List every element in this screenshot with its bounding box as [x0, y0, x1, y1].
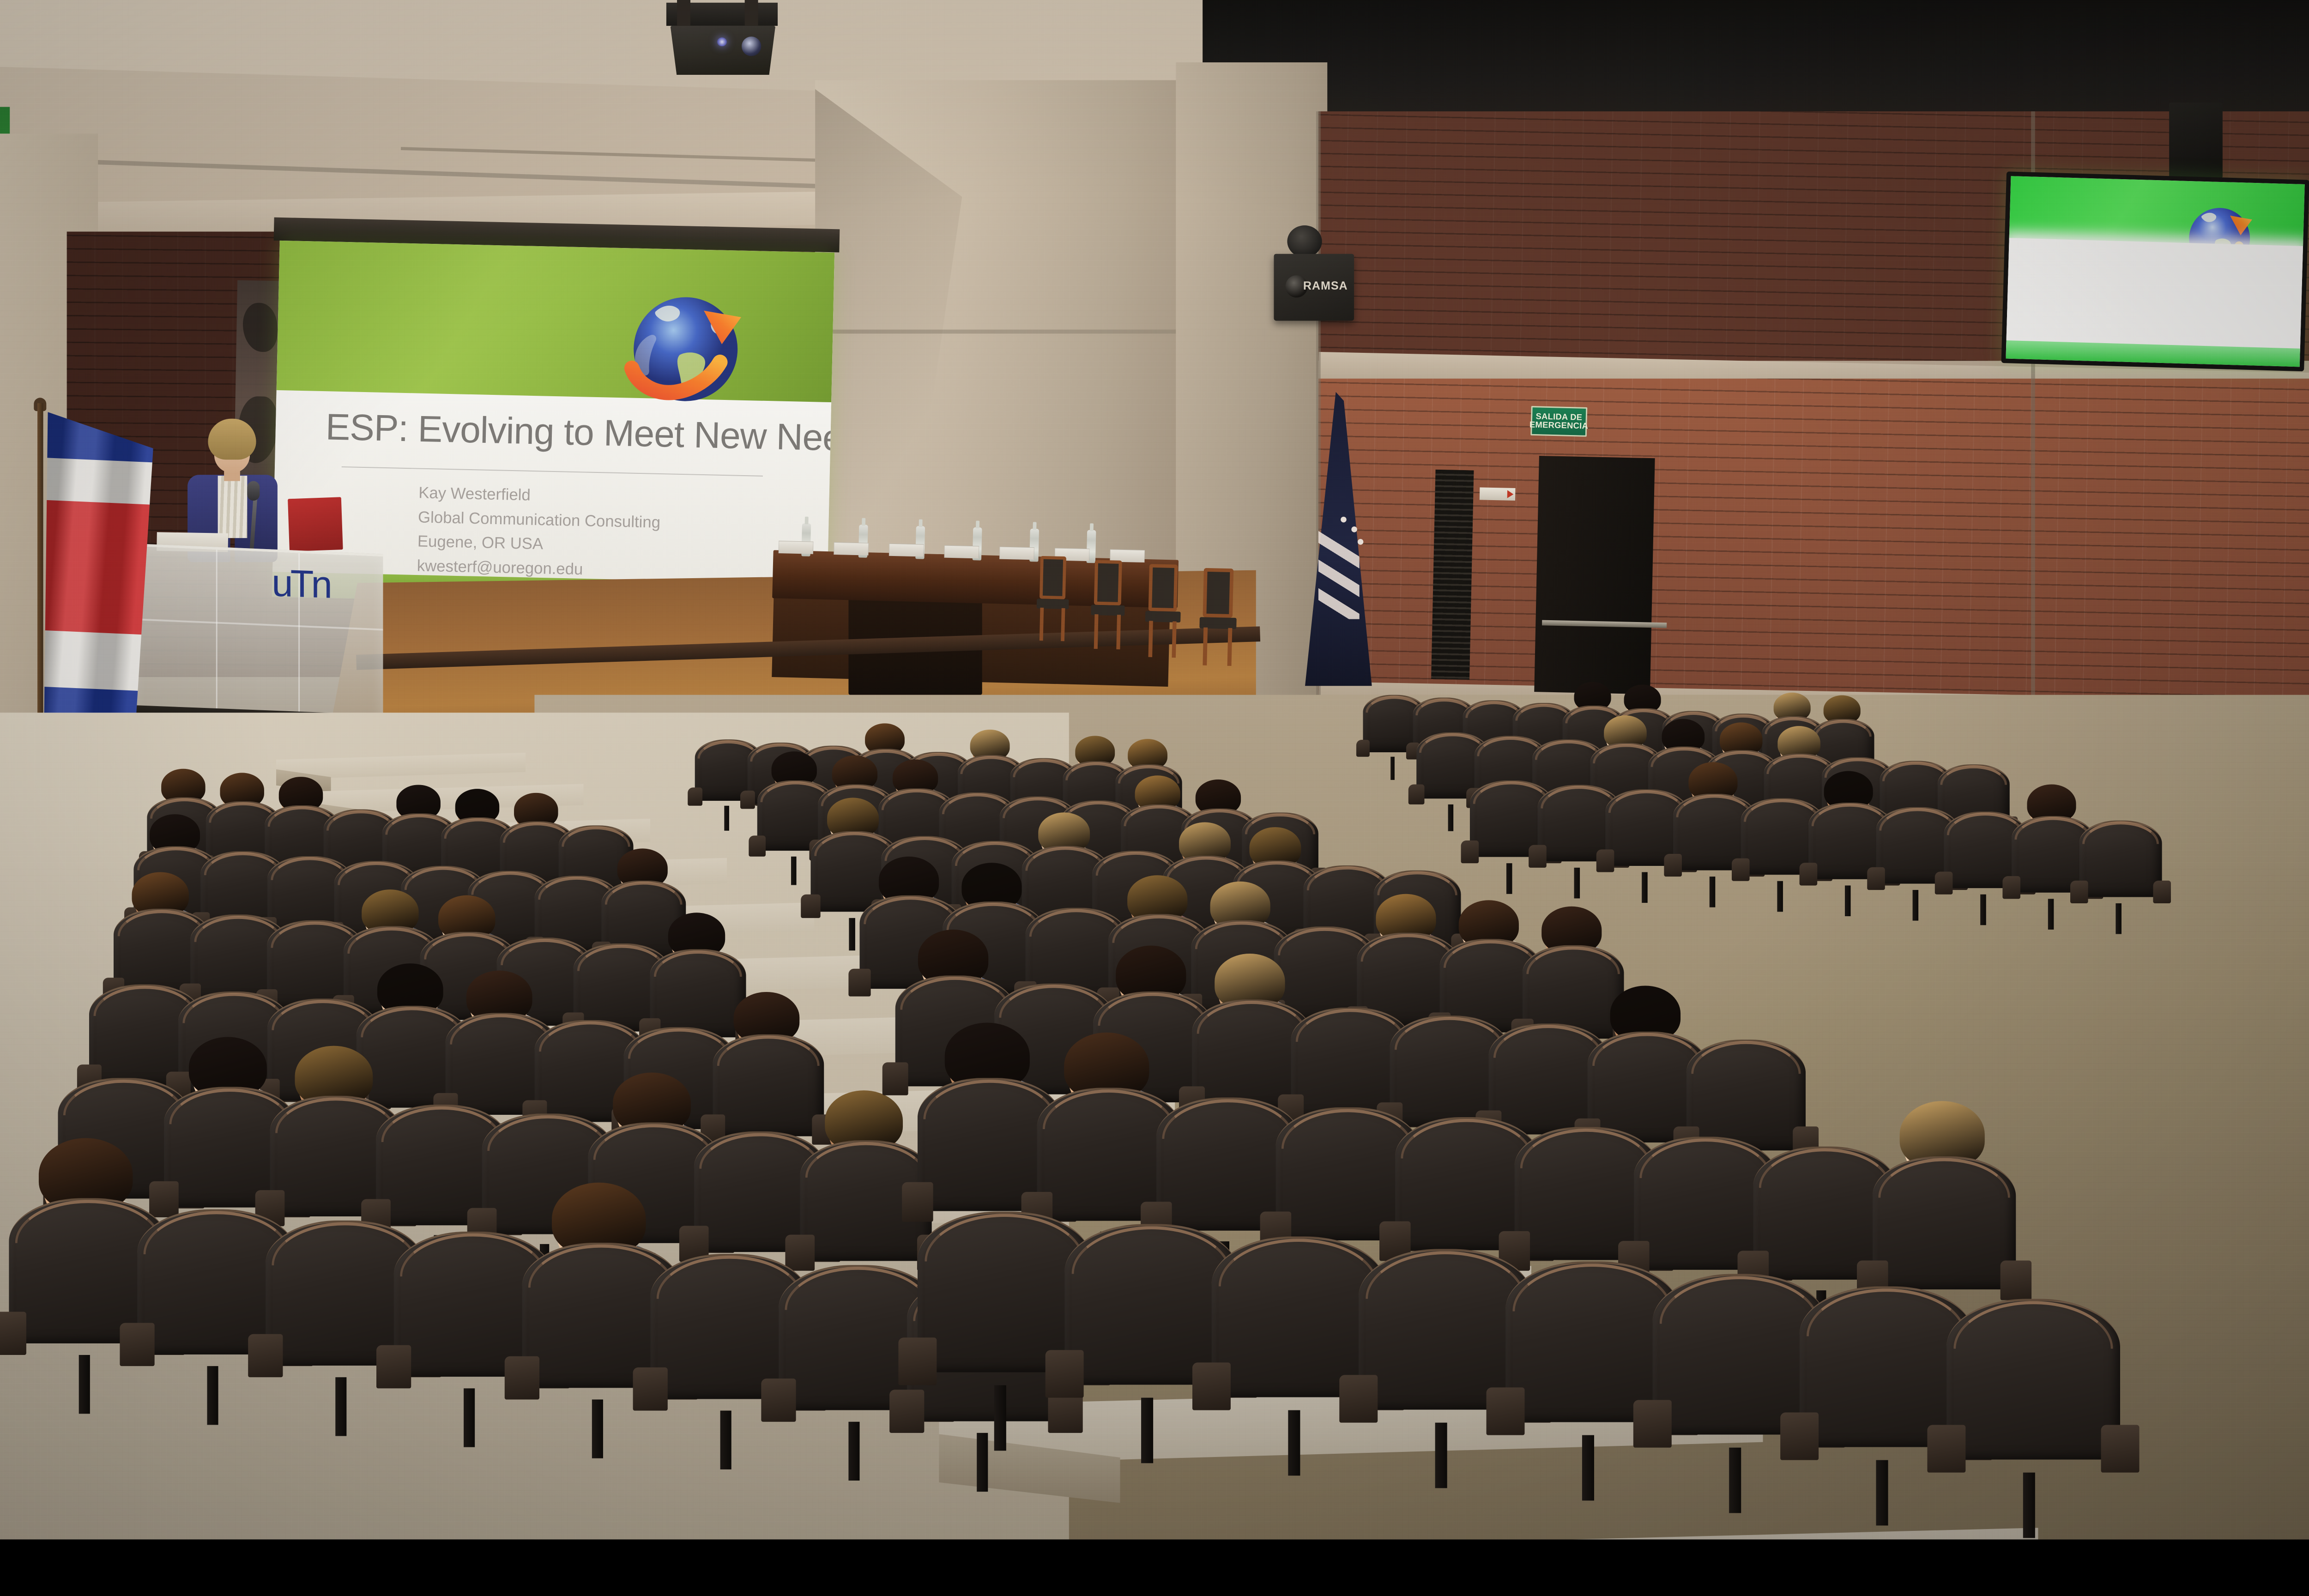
seat-armrest-left	[1192, 1362, 1231, 1410]
projector-mount-arm-right	[745, 0, 758, 26]
seat-armrest-left	[1046, 1350, 1084, 1398]
seat-armrest-left	[1596, 849, 1614, 872]
seat-pedestal-leg	[720, 1411, 731, 1469]
stage-chair	[1199, 568, 1238, 666]
seat-armrest-right	[2153, 880, 2171, 903]
seat-pedestal-leg	[1710, 877, 1716, 907]
seat-pedestal-leg	[1912, 890, 1918, 921]
microphone-head	[247, 481, 260, 501]
seat-armrest-left	[688, 787, 702, 805]
seat-frame-rim	[1512, 1263, 1672, 1312]
seat-armrest-left	[248, 1334, 283, 1377]
seat-pedestal-leg	[1448, 804, 1453, 831]
seat-frame-rim	[1218, 1239, 1378, 1287]
stage-chair-back	[1148, 564, 1178, 611]
seat-armrest-left	[376, 1345, 411, 1388]
wall-louver-vent	[1431, 470, 1474, 680]
seat-armrest-left	[1461, 840, 1479, 863]
emergency-exit-door[interactable]	[1534, 456, 1655, 694]
seat-pedestal-leg	[2116, 903, 2122, 934]
stage-chair	[1036, 556, 1070, 641]
stage-chair-back	[1094, 560, 1122, 606]
seat-armrest-left	[2002, 876, 2020, 899]
seat-pedestal-leg	[1845, 885, 1851, 916]
stage-chair-back	[1040, 556, 1066, 599]
seat-pedestal-leg	[79, 1355, 90, 1414]
seat-armrest-left	[1339, 1375, 1378, 1423]
seat-armrest-left	[1732, 858, 1750, 881]
seat-pedestal-leg	[1506, 863, 1512, 894]
projector-status-led	[717, 37, 727, 46]
seat-pedestal-leg	[1876, 1460, 1888, 1525]
seat-pedestal-leg	[994, 1385, 1006, 1451]
seat-armrest-left	[633, 1367, 668, 1410]
seat-armrest-left	[0, 1312, 26, 1355]
stage-chair-leg-right	[1227, 628, 1233, 666]
stage-chair-back	[1203, 568, 1234, 618]
seat-pedestal-leg	[848, 1422, 859, 1481]
ramsa-wall-speaker: RAMSA	[1274, 254, 1354, 321]
rear-wall-speaker	[2169, 103, 2223, 178]
seat-armrest-left	[1529, 845, 1547, 867]
exit-sign-line-2: EMERGENCIA	[1529, 421, 1589, 431]
lectern-podium	[133, 544, 383, 728]
utn-lectern-logo: uTn	[272, 561, 330, 607]
stage-chair	[1144, 564, 1182, 658]
seat-armrest-left	[1928, 1425, 1966, 1473]
wall-mounted-monitor	[2001, 171, 2309, 371]
seat-pedestal-leg	[1582, 1435, 1594, 1500]
seat-armrest-left	[740, 791, 755, 809]
slide-subtitle-block: Kay Westerfield Global Communication Con…	[417, 481, 807, 586]
seat-pedestal-leg	[1980, 894, 1986, 925]
auditorium-photo: ESP: Evolving to Meet New Needs Kay West…	[0, 0, 2309, 1539]
seat-armrest-left	[505, 1356, 540, 1399]
seat-armrest-left	[801, 894, 821, 918]
seat-armrest-left	[120, 1323, 155, 1366]
seat-pedestal-leg	[2023, 1473, 2035, 1538]
stage-chair-leg-left	[1148, 621, 1153, 657]
seat-armrest-left	[1356, 740, 1370, 757]
stage-chair-leg-left	[1040, 608, 1044, 641]
seat-frame-rim	[1071, 1226, 1231, 1274]
seat-armrest-left	[761, 1378, 796, 1421]
seat-pedestal-leg	[977, 1433, 988, 1492]
seat-frame-rim	[1807, 1288, 1966, 1336]
seat-frame-rim	[1659, 1276, 1819, 1324]
panelist-name-card	[834, 542, 869, 556]
panelist-name-card	[779, 541, 814, 554]
seat-pedestal-leg	[1390, 757, 1395, 780]
seat-frame-rim	[1953, 1301, 2113, 1349]
seat-pedestal-leg	[1435, 1423, 1447, 1488]
panelist-name-card	[889, 544, 924, 557]
seat-pedestal-leg	[1729, 1448, 1741, 1513]
auditorium-seat[interactable]	[2079, 821, 2162, 924]
seat-pedestal-leg	[207, 1366, 218, 1425]
seat-armrest-left	[1799, 863, 1817, 885]
monitor-slide-white-body	[2006, 238, 2303, 352]
seat-armrest-right	[2000, 1261, 2031, 1300]
seat-pedestal-leg	[791, 857, 797, 885]
seat-pedestal-leg	[1288, 1410, 1300, 1475]
seat-pedestal-leg	[1141, 1398, 1153, 1463]
seat-frame-rim	[1366, 1251, 1525, 1299]
seat-armrest-left	[1664, 854, 1682, 877]
seat-pedestal-leg	[1777, 881, 1783, 912]
red-laptop-on-lectern	[288, 497, 343, 551]
stage-chair-leg-left	[1203, 628, 1208, 665]
stage-chair-leg-right	[1172, 621, 1176, 658]
panelist-name-card	[944, 545, 979, 558]
seat-pedestal-leg	[1642, 872, 1648, 903]
presenter-blouse	[218, 476, 248, 538]
seat-pedestal-leg	[464, 1388, 475, 1447]
stage-chair	[1090, 560, 1126, 649]
seat-armrest-left	[749, 836, 765, 857]
projector-lens	[742, 36, 761, 56]
stage-chair-leg-left	[1094, 614, 1099, 649]
seat-armrest-left	[2070, 880, 2088, 903]
seat-pedestal-leg	[1574, 867, 1580, 898]
seat-armrest-left	[882, 1062, 908, 1095]
exit-direction-placard	[1480, 487, 1516, 501]
seat-pedestal-leg	[724, 806, 729, 831]
panelist-name-card	[999, 546, 1034, 560]
seat-armrest-left	[1487, 1387, 1525, 1435]
seat-armrest-left	[1408, 785, 1424, 804]
seat-armrest-left	[1867, 867, 1885, 889]
monitor-screen	[2006, 176, 2304, 367]
utn-banner-dot-3	[1358, 539, 1364, 545]
utn-banner-dot-2	[1351, 526, 1357, 532]
seat-frame-rim	[925, 1214, 1084, 1262]
stage-chair-leg-right	[1116, 615, 1121, 649]
projector-mount-arm-left	[677, 0, 690, 26]
utn-banner-logo-mark	[1318, 526, 1360, 619]
seat-armrest-left	[1934, 871, 1952, 894]
seat-pedestal-leg	[2048, 899, 2054, 930]
seat-pedestal-leg	[849, 918, 855, 951]
stage-chair-leg-right	[1061, 608, 1065, 641]
speaker-brand-label: RAMSA	[1303, 279, 1348, 293]
seat-pedestal-leg	[592, 1399, 603, 1458]
seat-armrest-left	[1633, 1400, 1672, 1448]
seat-armrest-right	[2101, 1425, 2140, 1473]
speaker-mount-yoke	[1287, 225, 1322, 257]
mural-shape-upper	[242, 302, 278, 352]
seat-armrest-left	[1780, 1412, 1819, 1460]
emergency-exit-sign: SALIDA DE EMERGENCIA	[1530, 406, 1587, 437]
seat-pedestal-leg	[335, 1377, 346, 1436]
seat-armrest-left	[899, 1337, 937, 1385]
auditorium-seat[interactable]	[1946, 1299, 2120, 1517]
presenter-hair	[208, 419, 256, 460]
seat-armrest-left	[848, 969, 870, 997]
utn-banner-dot-1	[1341, 517, 1347, 523]
